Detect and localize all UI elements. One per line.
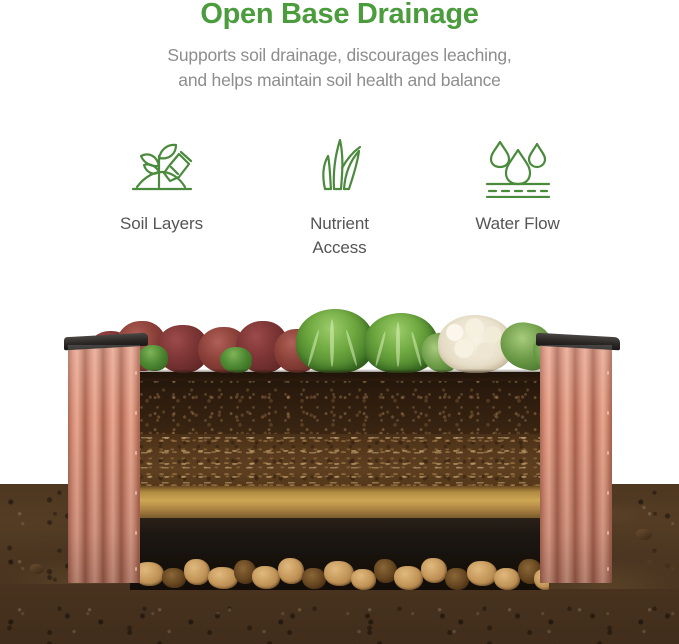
wood-log bbox=[324, 561, 354, 586]
bed-soil-surface bbox=[70, 369, 610, 381]
page-subtitle: Supports soil drainage, discourages leac… bbox=[0, 43, 679, 93]
panel-shading bbox=[68, 345, 140, 583]
panel-rivet bbox=[135, 451, 138, 455]
cabbage-vein bbox=[307, 329, 320, 366]
product-feature-graphic: Open Base Drainage Supports soil drainag… bbox=[0, 0, 679, 644]
panel-shading bbox=[540, 345, 612, 583]
wood-log bbox=[351, 569, 376, 590]
feature-label-water-flow: Water Flow bbox=[475, 212, 559, 236]
soil-rock bbox=[30, 564, 44, 574]
green-lettuce-leaf bbox=[138, 345, 168, 371]
compost-texture bbox=[130, 434, 549, 486]
panel-rivet bbox=[607, 451, 610, 455]
panel-rivet bbox=[135, 371, 138, 375]
wood-log bbox=[302, 568, 326, 589]
feature-item-water-flow: Water Flow bbox=[429, 132, 607, 260]
wood-log bbox=[184, 559, 210, 585]
wood-log bbox=[445, 568, 469, 590]
header: Open Base Drainage Supports soil drainag… bbox=[0, 0, 679, 93]
feature-item-soil-layers: Soil Layers bbox=[73, 132, 251, 260]
page-title: Open Base Drainage bbox=[0, 0, 679, 31]
cabbage-vein bbox=[345, 329, 358, 366]
wood-log bbox=[467, 561, 497, 586]
feature-item-nutrient-access: Nutrient Access bbox=[251, 132, 429, 260]
feature-label-soil-layers: Soil Layers bbox=[120, 212, 203, 236]
panel-rivet bbox=[607, 491, 610, 495]
cabbage-vein bbox=[374, 331, 386, 367]
cabbage-vein bbox=[330, 319, 334, 367]
feature-label-nutrient-line-2: Access bbox=[310, 236, 369, 260]
grass-blades-icon bbox=[303, 132, 377, 198]
seedling-shovel-icon bbox=[125, 132, 199, 198]
panel-rivet bbox=[607, 567, 610, 571]
subtitle-line-1: Supports soil drainage, discourages leac… bbox=[0, 43, 679, 68]
panel-rivet bbox=[135, 531, 138, 535]
soil-layer-topsoil bbox=[130, 372, 549, 434]
soil-layer-logs bbox=[130, 554, 549, 590]
panel-rivet bbox=[607, 371, 610, 375]
panel-rivet bbox=[607, 531, 610, 535]
wood-log bbox=[278, 558, 304, 584]
feature-label-nutrient-line-1: Nutrient bbox=[310, 212, 369, 236]
soil-cross-section bbox=[130, 372, 549, 590]
raised-bed-scene bbox=[0, 285, 679, 644]
feature-label-nutrient-access: Nutrient Access bbox=[310, 212, 369, 260]
wood-log bbox=[162, 568, 186, 588]
soil-rock bbox=[636, 529, 652, 540]
wood-log bbox=[252, 566, 280, 589]
topsoil-texture bbox=[130, 372, 549, 434]
wood-log bbox=[421, 558, 447, 583]
panel-rivet bbox=[135, 567, 138, 571]
water-droplets-icon bbox=[479, 132, 557, 198]
planter-panel-left bbox=[68, 345, 140, 583]
planter-panel-right bbox=[540, 345, 612, 583]
cabbage-vein bbox=[396, 322, 400, 367]
wood-log bbox=[394, 566, 423, 590]
plant-row bbox=[70, 303, 610, 377]
twigs-texture bbox=[130, 514, 549, 558]
soil-layer-twigs bbox=[130, 518, 549, 554]
wood-log bbox=[494, 568, 520, 590]
panel-rivet bbox=[135, 411, 138, 415]
panel-rivet bbox=[135, 491, 138, 495]
feature-list: Soil Layers Nutrient Access bbox=[0, 132, 679, 260]
panel-rivet bbox=[607, 411, 610, 415]
green-cabbage bbox=[296, 309, 374, 373]
soil-layer-compost bbox=[130, 434, 549, 486]
subtitle-line-2: and helps maintain soil health and balan… bbox=[0, 68, 679, 93]
